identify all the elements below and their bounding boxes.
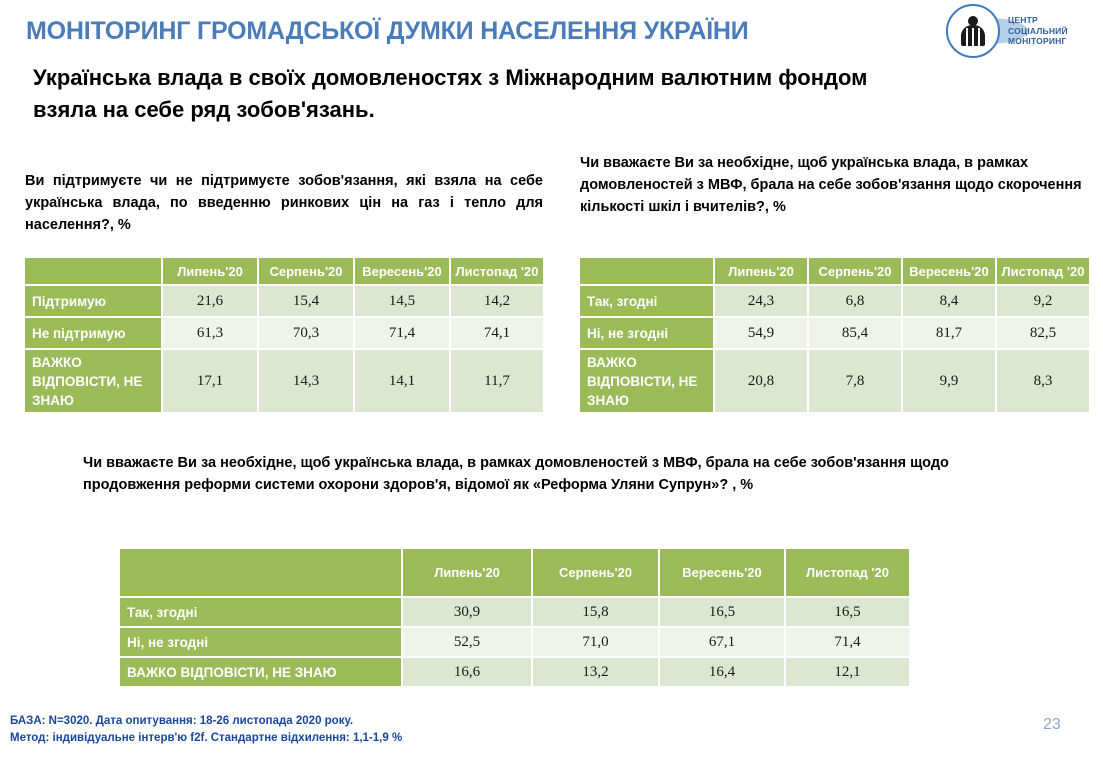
cell-value: 20,8 <box>715 350 809 414</box>
table-health-reform: Липень'20 Серпень'20 Вересень'20 Листопа… <box>120 549 911 688</box>
table-corner-cell <box>580 258 715 286</box>
cell-value: 24,3 <box>715 286 809 318</box>
cell-value: 6,8 <box>809 286 903 318</box>
cell-value: 14,5 <box>355 286 451 318</box>
cell-value: 13,2 <box>533 658 660 688</box>
cell-value: 16,5 <box>660 598 786 628</box>
cell-value: 8,4 <box>903 286 997 318</box>
cell-value: 71,4 <box>355 318 451 350</box>
logo-person-stripe-3 <box>978 28 980 46</box>
cell-value: 81,7 <box>903 318 997 350</box>
cell-value: 12,1 <box>786 658 911 688</box>
cell-value: 7,8 <box>809 350 903 414</box>
column-header-november: Листопад '20 <box>786 549 911 598</box>
table-row: Ні, не згодні 52,5 71,0 67,1 71,4 <box>120 628 911 658</box>
cell-value: 67,1 <box>660 628 786 658</box>
slide-subtitle: Українська влада в своїх домовленостях з… <box>33 62 933 126</box>
column-header-august: Серпень'20 <box>533 549 660 598</box>
footer-line-method: Метод: індивідуальне інтерв'ю f2f. Станд… <box>10 730 402 747</box>
table-row: Так, згодні 30,9 15,8 16,5 16,5 <box>120 598 911 628</box>
column-header-august: Серпень'20 <box>259 258 355 286</box>
cell-value: 11,7 <box>451 350 545 414</box>
table-corner-cell <box>120 549 403 598</box>
logo-text-line-3: МОНІТОРИНГ <box>1008 36 1068 47</box>
row-label-not-support: Не підтримую <box>25 318 163 350</box>
cell-value: 16,5 <box>786 598 911 628</box>
cell-value: 9,9 <box>903 350 997 414</box>
row-label-yes-agree: Так, згодні <box>580 286 715 318</box>
table-header-row: Липень'20 Серпень'20 Вересень'20 Листопа… <box>120 549 911 598</box>
logo-person-icon <box>961 16 985 46</box>
cell-value: 71,0 <box>533 628 660 658</box>
cell-value: 14,3 <box>259 350 355 414</box>
logo-text-line-1: ЦЕНТР <box>1008 15 1068 26</box>
cell-value: 74,1 <box>451 318 545 350</box>
cell-value: 14,2 <box>451 286 545 318</box>
table-row: Не підтримую 61,3 70,3 71,4 74,1 <box>25 318 545 350</box>
page-title: МОНІТОРИНГ ГРОМАДСЬКОЇ ДУМКИ НАСЕЛЕННЯ У… <box>26 17 926 46</box>
row-label-dont-know: ВАЖКО ВІДПОВІСТИ, НЕ ЗНАЮ <box>25 350 163 414</box>
table-row: ВАЖКО ВІДПОВІСТИ, НЕ ЗНАЮ 16,6 13,2 16,4… <box>120 658 911 688</box>
table-row: ВАЖКО ВІДПОВІСТИ, НЕ ЗНАЮ 17,1 14,3 14,1… <box>25 350 545 414</box>
row-label-no-disagree: Ні, не згодні <box>120 628 403 658</box>
cell-value: 85,4 <box>809 318 903 350</box>
cell-value: 54,9 <box>715 318 809 350</box>
table-row: ВАЖКО ВІДПОВІСТИ, НЕ ЗНАЮ 20,8 7,8 9,9 8… <box>580 350 1091 414</box>
cell-value: 71,4 <box>786 628 911 658</box>
row-label-dont-know: ВАЖКО ВІДПОВІСТИ, НЕ ЗНАЮ <box>580 350 715 414</box>
cell-value: 21,6 <box>163 286 259 318</box>
logo-person-stripe-1 <box>966 28 968 46</box>
cell-value: 15,4 <box>259 286 355 318</box>
row-label-dont-know: ВАЖКО ВІДПОВІСТИ, НЕ ЗНАЮ <box>120 658 403 688</box>
question-left-label: Ви підтримуєте чи не підтримуєте зобов'я… <box>25 170 543 236</box>
logo-person-stripe-2 <box>972 28 974 46</box>
cell-value: 15,8 <box>533 598 660 628</box>
table-row: Так, згодні 24,3 6,8 8,4 9,2 <box>580 286 1091 318</box>
column-header-november: Листопад '20 <box>997 258 1091 286</box>
row-label-no-disagree: Ні, не згодні <box>580 318 715 350</box>
table-row: Підтримую 21,6 15,4 14,5 14,2 <box>25 286 545 318</box>
column-header-july: Липень'20 <box>163 258 259 286</box>
page-number: 23 <box>1043 716 1061 734</box>
cell-value: 14,1 <box>355 350 451 414</box>
question-right-label: Чи вважаєте Ви за необхідне, щоб українс… <box>580 152 1092 218</box>
column-header-september: Вересень'20 <box>660 549 786 598</box>
column-header-july: Липень'20 <box>715 258 809 286</box>
table-header-row: Липень'20 Серпень'20 Вересень'20 Листопа… <box>580 258 1091 286</box>
column-header-september: Вересень'20 <box>355 258 451 286</box>
cell-value: 30,9 <box>403 598 533 628</box>
cell-value: 8,3 <box>997 350 1091 414</box>
cell-value: 17,1 <box>163 350 259 414</box>
cell-value: 61,3 <box>163 318 259 350</box>
logo-text-line-2: СОЦІАЛЬНИЙ <box>1008 26 1068 37</box>
footer-line-base: БАЗА: N=3020. Дата опитування: 18-26 лис… <box>10 713 402 730</box>
table-corner-cell <box>25 258 163 286</box>
column-header-july: Липень'20 <box>403 549 533 598</box>
cell-value: 16,6 <box>403 658 533 688</box>
row-label-support: Підтримую <box>25 286 163 318</box>
table-gas-heat-prices: Липень'20 Серпень'20 Вересень'20 Листопа… <box>25 258 545 414</box>
cell-value: 70,3 <box>259 318 355 350</box>
column-header-september: Вересень'20 <box>903 258 997 286</box>
column-header-august: Серпень'20 <box>809 258 903 286</box>
cell-value: 9,2 <box>997 286 1091 318</box>
footer-note: БАЗА: N=3020. Дата опитування: 18-26 лис… <box>10 713 402 747</box>
table-row: Ні, не згодні 54,9 85,4 81,7 82,5 <box>580 318 1091 350</box>
cell-value: 52,5 <box>403 628 533 658</box>
question-bottom-label: Чи вважаєте Ви за необхідне, щоб українс… <box>83 452 963 496</box>
organization-logo: ЦЕНТР СОЦІАЛЬНИЙ МОНІТОРИНГ <box>946 4 1098 60</box>
cell-value: 82,5 <box>997 318 1091 350</box>
column-header-november: Листопад '20 <box>451 258 545 286</box>
row-label-yes-agree: Так, згодні <box>120 598 403 628</box>
logo-text: ЦЕНТР СОЦІАЛЬНИЙ МОНІТОРИНГ <box>1008 15 1068 47</box>
cell-value: 16,4 <box>660 658 786 688</box>
table-schools-teachers: Липень'20 Серпень'20 Вересень'20 Листопа… <box>580 258 1091 414</box>
table-header-row: Липень'20 Серпень'20 Вересень'20 Листопа… <box>25 258 545 286</box>
